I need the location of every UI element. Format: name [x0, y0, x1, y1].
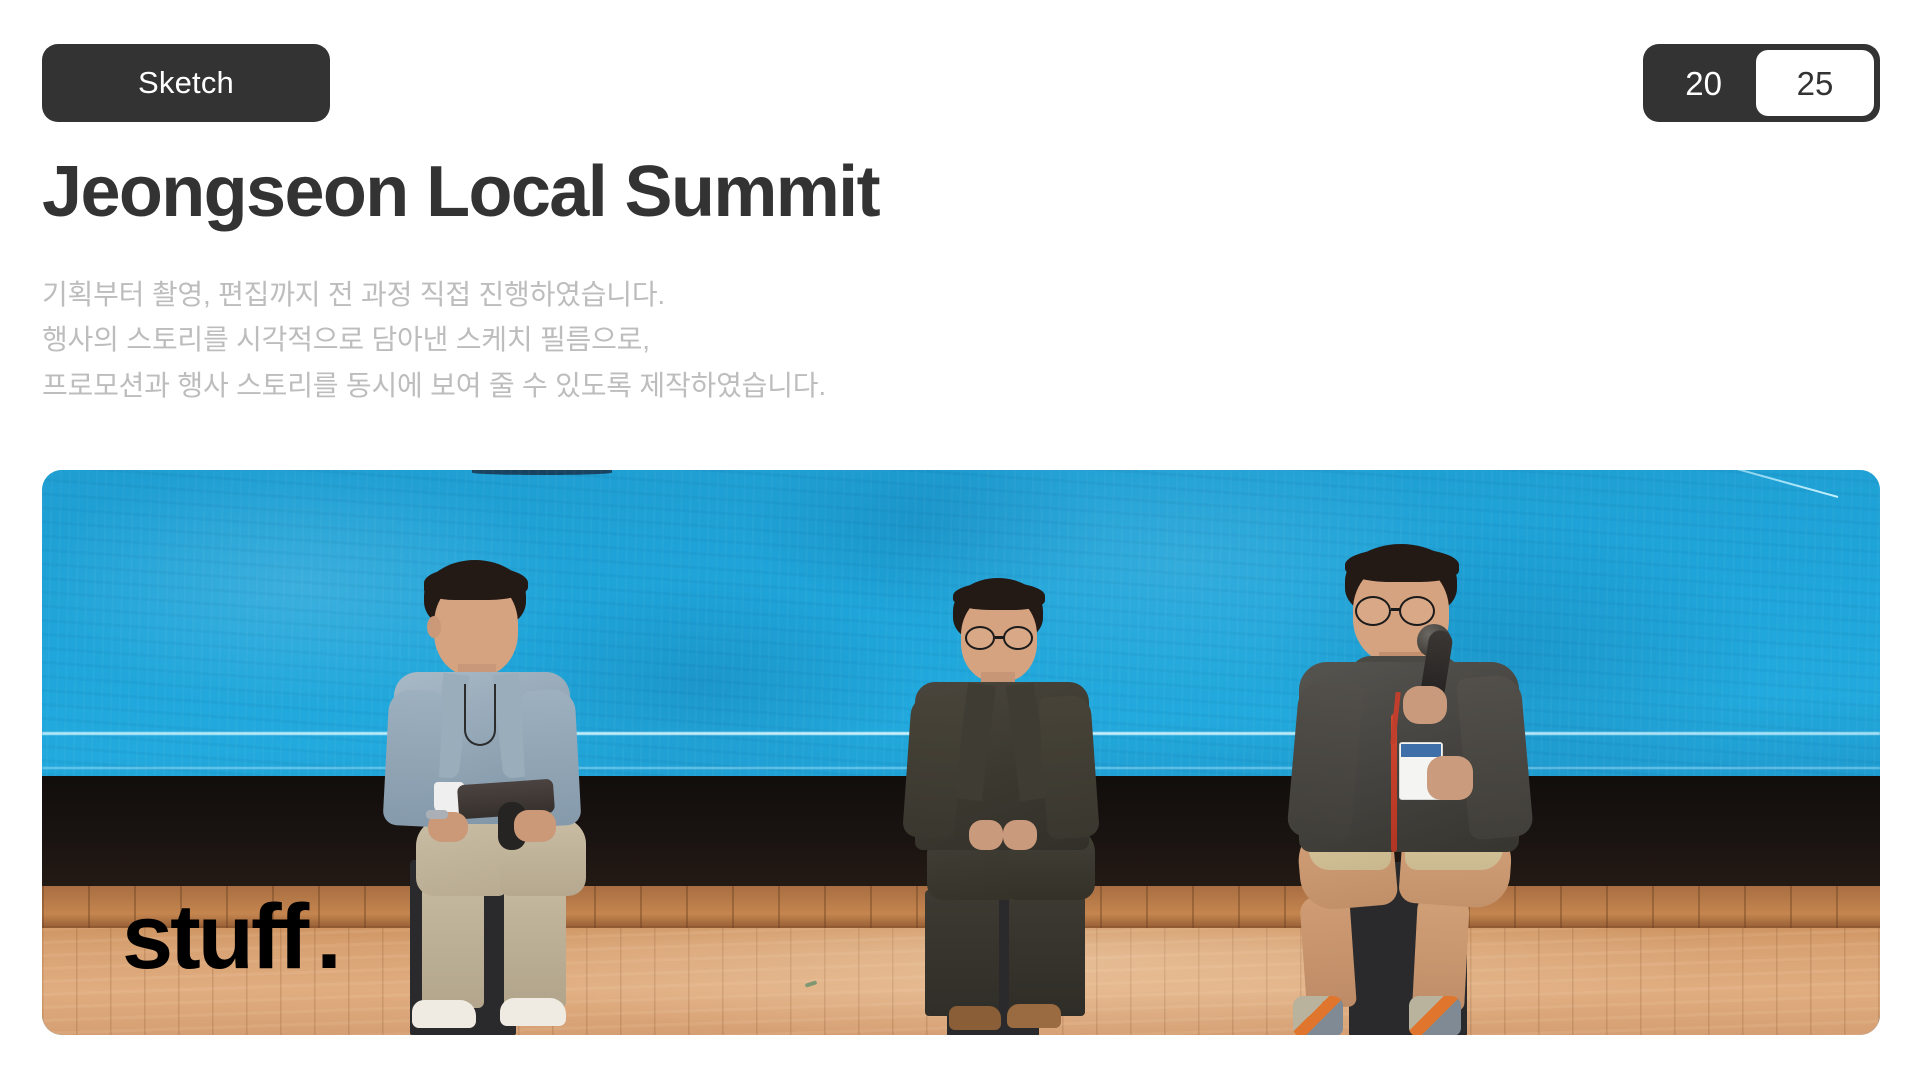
hair-fringe: [424, 566, 528, 600]
hand-left: [969, 820, 1003, 850]
shoe-left: [412, 1000, 476, 1028]
hair-fringe: [953, 582, 1045, 610]
watermark-text: stuff: [122, 886, 306, 988]
arm-left: [1286, 680, 1363, 841]
shin-right: [1412, 895, 1470, 1012]
shoe-right: [500, 998, 566, 1026]
glasses-lens-right: [1399, 596, 1435, 626]
year-highlight: 25: [1756, 50, 1874, 116]
lanyard: [464, 684, 496, 746]
arm-left: [902, 694, 964, 839]
arm-right: [1456, 674, 1534, 841]
hand-holding-microphone: [1403, 686, 1447, 724]
category-chip-sketch[interactable]: Sketch: [42, 44, 330, 122]
sandal-left: [1293, 996, 1343, 1035]
header: Sketch 20 25: [42, 44, 1880, 122]
glasses-lens-left: [1355, 596, 1391, 626]
leg-right: [1009, 890, 1085, 1016]
panelist-center: [887, 578, 1137, 1035]
category-chip-label: Sketch: [138, 65, 234, 101]
shoe-right: [1007, 1004, 1061, 1028]
shoe-left: [949, 1006, 1001, 1030]
hand-gesturing: [1427, 756, 1473, 800]
panelist-left: [372, 560, 642, 1035]
description-line-2: 행사의 스토리를 시각적으로 담아낸 스케치 필름으로,: [42, 317, 826, 362]
description-line-1: 기획부터 촬영, 편집까지 전 과정 직접 진행하였습니다.: [42, 272, 826, 317]
year-badge[interactable]: 20 25: [1643, 44, 1880, 122]
year-prefix: 20: [1649, 67, 1756, 100]
leg-right: [504, 886, 566, 1008]
hand-right: [514, 810, 556, 842]
page-title: Jeongseon Local Summit: [42, 155, 879, 231]
sandal-right: [1409, 996, 1461, 1035]
glasses-lens-left: [965, 626, 995, 650]
watermark-dot: .: [306, 886, 342, 988]
screen-notch: [472, 470, 612, 475]
leg-left: [422, 886, 484, 1008]
hand-right: [1003, 820, 1037, 850]
leg-left: [925, 890, 999, 1016]
project-description: 기획부터 촬영, 편집까지 전 과정 직접 진행하였습니다. 행사의 스토리를 …: [42, 272, 826, 408]
arm-right: [1038, 694, 1100, 839]
project-detail-page: Sketch 20 25 Jeongseon Local Summit 기획부터…: [0, 0, 1920, 1080]
name-badge-header: [1401, 744, 1441, 757]
glasses-lens-right: [1003, 626, 1033, 650]
description-line-3: 프로모션과 행사 스토리를 동시에 보여 줄 수 있도록 제작하였습니다.: [42, 363, 826, 408]
wristwatch: [426, 810, 448, 819]
shin-left: [1299, 894, 1357, 1009]
panelist-right-speaking: [1287, 544, 1567, 1035]
glasses-bridge: [1391, 608, 1401, 611]
stuff-watermark: stuff.: [122, 891, 342, 983]
glasses-bridge: [995, 636, 1005, 639]
ear: [427, 616, 441, 638]
project-media-thumbnail[interactable]: stuff.: [42, 470, 1880, 1035]
hair-fringe: [1345, 548, 1459, 582]
